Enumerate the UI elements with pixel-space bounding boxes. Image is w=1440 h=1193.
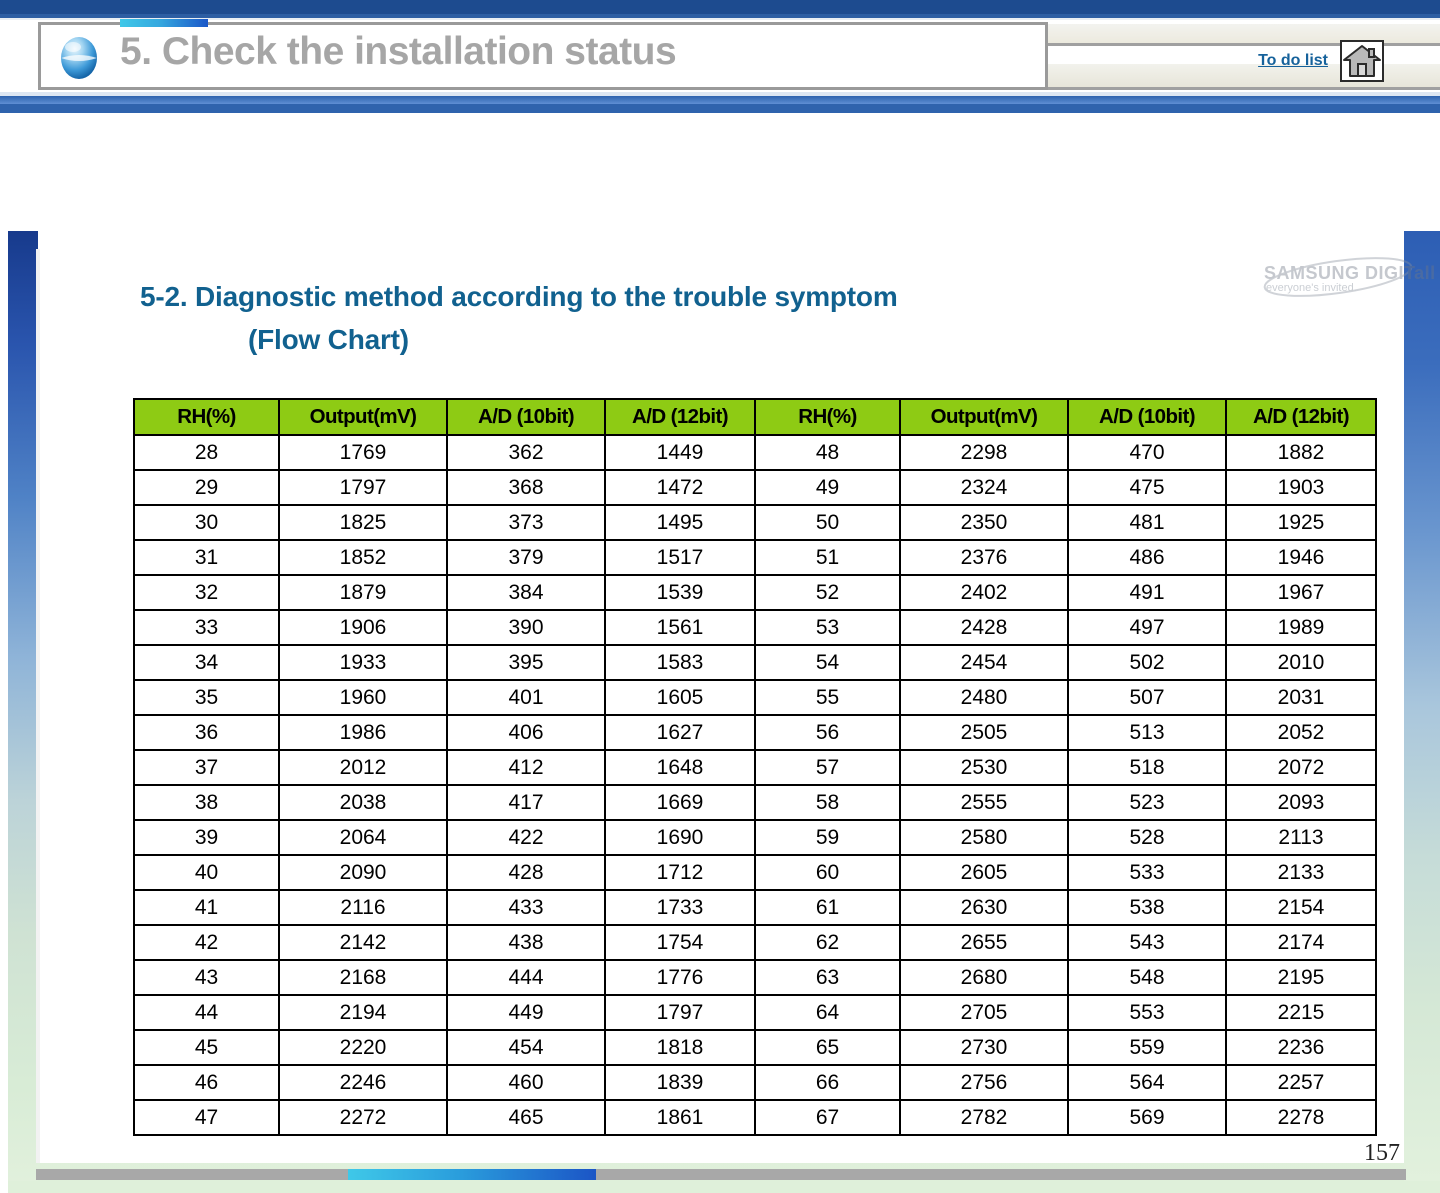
table-cell: 1517 [605, 540, 755, 575]
table-cell: 502 [1068, 645, 1226, 680]
section-heading-line2: (Flow Chart) [140, 318, 1290, 361]
table-column-header: A/D (10bit) [447, 399, 605, 435]
table-cell: 62 [755, 925, 900, 960]
table-cell: 2480 [900, 680, 1068, 715]
table-row: 35196040116055524805072031 [134, 680, 1376, 715]
table-cell: 60 [755, 855, 900, 890]
table-cell: 38 [134, 785, 279, 820]
table-cell: 2555 [900, 785, 1068, 820]
table-cell: 460 [447, 1065, 605, 1100]
table-cell: 2174 [1226, 925, 1376, 960]
table-cell: 2705 [900, 995, 1068, 1030]
table-cell: 65 [755, 1030, 900, 1065]
table-cell: 31 [134, 540, 279, 575]
table-cell: 395 [447, 645, 605, 680]
table-cell: 58 [755, 785, 900, 820]
table-row: 33190639015615324284971989 [134, 610, 1376, 645]
table-cell: 362 [447, 435, 605, 470]
table-column-header: Output(mV) [900, 399, 1068, 435]
table-cell: 44 [134, 995, 279, 1030]
table-cell: 2168 [279, 960, 447, 995]
table-cell: 543 [1068, 925, 1226, 960]
table-cell: 2730 [900, 1030, 1068, 1065]
table-cell: 2038 [279, 785, 447, 820]
table-cell: 61 [755, 890, 900, 925]
table-row: 30182537314955023504811925 [134, 505, 1376, 540]
table-cell: 2298 [900, 435, 1068, 470]
table-cell: 1449 [605, 435, 755, 470]
table-cell: 507 [1068, 680, 1226, 715]
table-cell: 401 [447, 680, 605, 715]
table-cell: 32 [134, 575, 279, 610]
table-cell: 57 [755, 750, 900, 785]
table-cell: 553 [1068, 995, 1226, 1030]
table-row: 43216844417766326805482195 [134, 960, 1376, 995]
table-cell: 1754 [605, 925, 755, 960]
table-cell: 1495 [605, 505, 755, 540]
table-cell: 51 [755, 540, 900, 575]
table-cell: 34 [134, 645, 279, 680]
table-cell: 2031 [1226, 680, 1376, 715]
table-cell: 1986 [279, 715, 447, 750]
table-cell: 43 [134, 960, 279, 995]
table-cell: 1733 [605, 890, 755, 925]
table-column-header: Output(mV) [279, 399, 447, 435]
table-cell: 63 [755, 960, 900, 995]
slide-body: SAMSUNG DIGITall everyone's invited. 5-2… [0, 113, 1440, 1080]
table-cell: 373 [447, 505, 605, 540]
slide-header-band: 5. Check the installation status To do l… [0, 0, 1440, 113]
table-cell: 36 [134, 715, 279, 750]
table-cell: 1690 [605, 820, 755, 855]
table-cell: 52 [755, 575, 900, 610]
table-cell: 59 [755, 820, 900, 855]
table-cell: 2605 [900, 855, 1068, 890]
table-cell: 1627 [605, 715, 755, 750]
table-column-header: RH(%) [134, 399, 279, 435]
table-cell: 2116 [279, 890, 447, 925]
table-cell: 2215 [1226, 995, 1376, 1030]
table-column-header: A/D (12bit) [605, 399, 755, 435]
table-cell: 2428 [900, 610, 1068, 645]
table-cell: 518 [1068, 750, 1226, 785]
table-cell: 1648 [605, 750, 755, 785]
page-number: 157 [1364, 1140, 1400, 1167]
table-cell: 1960 [279, 680, 447, 715]
table-cell: 454 [447, 1030, 605, 1065]
table-cell: 2278 [1226, 1100, 1376, 1135]
table-cell: 2113 [1226, 820, 1376, 855]
table-cell: 49 [755, 470, 900, 505]
table-cell: 491 [1068, 575, 1226, 610]
table-cell: 41 [134, 890, 279, 925]
table-cell: 444 [447, 960, 605, 995]
table-cell: 2220 [279, 1030, 447, 1065]
table-cell: 2236 [1226, 1030, 1376, 1065]
table-column-header: RH(%) [755, 399, 900, 435]
table-row: 38203841716695825555232093 [134, 785, 1376, 820]
table-cell: 412 [447, 750, 605, 785]
table-cell: 45 [134, 1030, 279, 1065]
table-row: 46224646018396627565642257 [134, 1065, 1376, 1100]
table-cell: 1776 [605, 960, 755, 995]
left-gradient-border [8, 231, 38, 1181]
table-cell: 1903 [1226, 470, 1376, 505]
content-card-left-shade [36, 249, 40, 1163]
table-cell: 428 [447, 855, 605, 890]
table-cell: 390 [447, 610, 605, 645]
table-cell: 1797 [605, 995, 755, 1030]
table-cell: 1946 [1226, 540, 1376, 575]
table-cell: 2376 [900, 540, 1068, 575]
table-cell: 481 [1068, 505, 1226, 540]
rh-output-table-container: RH(%)Output(mV)A/D (10bit)A/D (12bit)RH(… [133, 398, 1375, 1136]
table-cell: 1839 [605, 1065, 755, 1100]
table-cell: 1925 [1226, 505, 1376, 540]
table-cell: 42 [134, 925, 279, 960]
table-row: 39206442216905925805282113 [134, 820, 1376, 855]
table-cell: 28 [134, 435, 279, 470]
table-cell: 2505 [900, 715, 1068, 750]
table-cell: 40 [134, 855, 279, 890]
table-cell: 2655 [900, 925, 1068, 960]
table-cell: 2324 [900, 470, 1068, 505]
table-cell: 2093 [1226, 785, 1376, 820]
table-cell: 48 [755, 435, 900, 470]
table-cell: 47 [134, 1100, 279, 1135]
table-cell: 417 [447, 785, 605, 820]
section-heading-line1: 5-2. Diagnostic method according to the … [140, 281, 898, 312]
table-cell: 1879 [279, 575, 447, 610]
table-cell: 1797 [279, 470, 447, 505]
table-cell: 379 [447, 540, 605, 575]
table-cell: 2530 [900, 750, 1068, 785]
table-cell: 559 [1068, 1030, 1226, 1065]
table-row: 32187938415395224024911967 [134, 575, 1376, 610]
blue-orb-icon [56, 36, 102, 80]
table-cell: 497 [1068, 610, 1226, 645]
table-cell: 33 [134, 610, 279, 645]
footer-accent-gradient [348, 1169, 596, 1180]
table-cell: 465 [447, 1100, 605, 1135]
section-heading: 5-2. Diagnostic method according to the … [140, 275, 1290, 361]
table-row: 45222045418186527305592236 [134, 1030, 1376, 1065]
table-cell: 66 [755, 1065, 900, 1100]
table-cell: 533 [1068, 855, 1226, 890]
table-cell: 54 [755, 645, 900, 680]
table-cell: 513 [1068, 715, 1226, 750]
to-do-list-link[interactable]: To do list [1258, 52, 1328, 70]
table-cell: 1906 [279, 610, 447, 645]
table-cell: 2195 [1226, 960, 1376, 995]
table-cell: 2782 [900, 1100, 1068, 1135]
table-cell: 1818 [605, 1030, 755, 1065]
table-header-row: RH(%)Output(mV)A/D (10bit)A/D (12bit)RH(… [134, 399, 1376, 435]
table-cell: 1561 [605, 610, 755, 645]
page-title: 5. Check the installation status [120, 30, 676, 74]
rh-output-table: RH(%)Output(mV)A/D (10bit)A/D (12bit)RH(… [133, 398, 1377, 1136]
table-cell: 438 [447, 925, 605, 960]
table-cell: 449 [447, 995, 605, 1030]
table-cell: 2454 [900, 645, 1068, 680]
table-cell: 486 [1068, 540, 1226, 575]
table-cell: 2090 [279, 855, 447, 890]
table-cell: 384 [447, 575, 605, 610]
table-cell: 2133 [1226, 855, 1376, 890]
table-row: 36198640616275625055132052 [134, 715, 1376, 750]
table-cell: 422 [447, 820, 605, 855]
table-cell: 1712 [605, 855, 755, 890]
table-cell: 29 [134, 470, 279, 505]
table-cell: 46 [134, 1065, 279, 1100]
table-cell: 2064 [279, 820, 447, 855]
table-cell: 2072 [1226, 750, 1376, 785]
table-cell: 528 [1068, 820, 1226, 855]
table-cell: 1583 [605, 645, 755, 680]
home-icon [1342, 42, 1382, 80]
table-cell: 1669 [605, 785, 755, 820]
table-cell: 39 [134, 820, 279, 855]
table-cell: 1825 [279, 505, 447, 540]
table-row: 44219444917976427055532215 [134, 995, 1376, 1030]
table-cell: 2194 [279, 995, 447, 1030]
table-cell: 1967 [1226, 575, 1376, 610]
table-cell: 1539 [605, 575, 755, 610]
header-accent-tab [120, 19, 208, 27]
table-row: 42214243817546226555432174 [134, 925, 1376, 960]
home-button[interactable] [1340, 40, 1384, 82]
table-cell: 569 [1068, 1100, 1226, 1135]
table-cell: 406 [447, 715, 605, 750]
table-cell: 2402 [900, 575, 1068, 610]
table-row: 47227246518616727825692278 [134, 1100, 1376, 1135]
table-cell: 1769 [279, 435, 447, 470]
table-cell: 538 [1068, 890, 1226, 925]
table-cell: 2680 [900, 960, 1068, 995]
table-cell: 523 [1068, 785, 1226, 820]
table-cell: 470 [1068, 435, 1226, 470]
table-column-header: A/D (12bit) [1226, 399, 1376, 435]
table-row: 29179736814724923244751903 [134, 470, 1376, 505]
table-row: 40209042817126026055332133 [134, 855, 1376, 890]
table-cell: 548 [1068, 960, 1226, 995]
table-cell: 67 [755, 1100, 900, 1135]
table-cell: 2257 [1226, 1065, 1376, 1100]
table-cell: 2272 [279, 1100, 447, 1135]
table-cell: 55 [755, 680, 900, 715]
table-cell: 50 [755, 505, 900, 540]
table-cell: 2580 [900, 820, 1068, 855]
table-cell: 53 [755, 610, 900, 645]
table-cell: 475 [1068, 470, 1226, 505]
footer-accent-bar [36, 1169, 1406, 1180]
table-cell: 368 [447, 470, 605, 505]
table-cell: 2756 [900, 1065, 1068, 1100]
table-cell: 433 [447, 890, 605, 925]
table-cell: 64 [755, 995, 900, 1030]
table-cell: 2154 [1226, 890, 1376, 925]
table-cell: 1852 [279, 540, 447, 575]
table-cell: 56 [755, 715, 900, 750]
table-row: 28176936214494822984701882 [134, 435, 1376, 470]
table-column-header: A/D (10bit) [1068, 399, 1226, 435]
table-cell: 2010 [1226, 645, 1376, 680]
table-cell: 37 [134, 750, 279, 785]
table-cell: 1472 [605, 470, 755, 505]
table-cell: 2142 [279, 925, 447, 960]
table-cell: 1861 [605, 1100, 755, 1135]
table-cell: 1605 [605, 680, 755, 715]
table-cell: 564 [1068, 1065, 1226, 1100]
table-row: 37201241216485725305182072 [134, 750, 1376, 785]
table-row: 41211643317336126305382154 [134, 890, 1376, 925]
table-cell: 2350 [900, 505, 1068, 540]
table-row: 34193339515835424545022010 [134, 645, 1376, 680]
table-row: 31185237915175123764861946 [134, 540, 1376, 575]
table-cell: 30 [134, 505, 279, 540]
table-cell: 1933 [279, 645, 447, 680]
table-cell: 2052 [1226, 715, 1376, 750]
table-cell: 2012 [279, 750, 447, 785]
table-cell: 2246 [279, 1065, 447, 1100]
table-cell: 2630 [900, 890, 1068, 925]
table-cell: 35 [134, 680, 279, 715]
table-cell: 1989 [1226, 610, 1376, 645]
table-cell: 1882 [1226, 435, 1376, 470]
right-gradient-border [1404, 231, 1440, 1181]
